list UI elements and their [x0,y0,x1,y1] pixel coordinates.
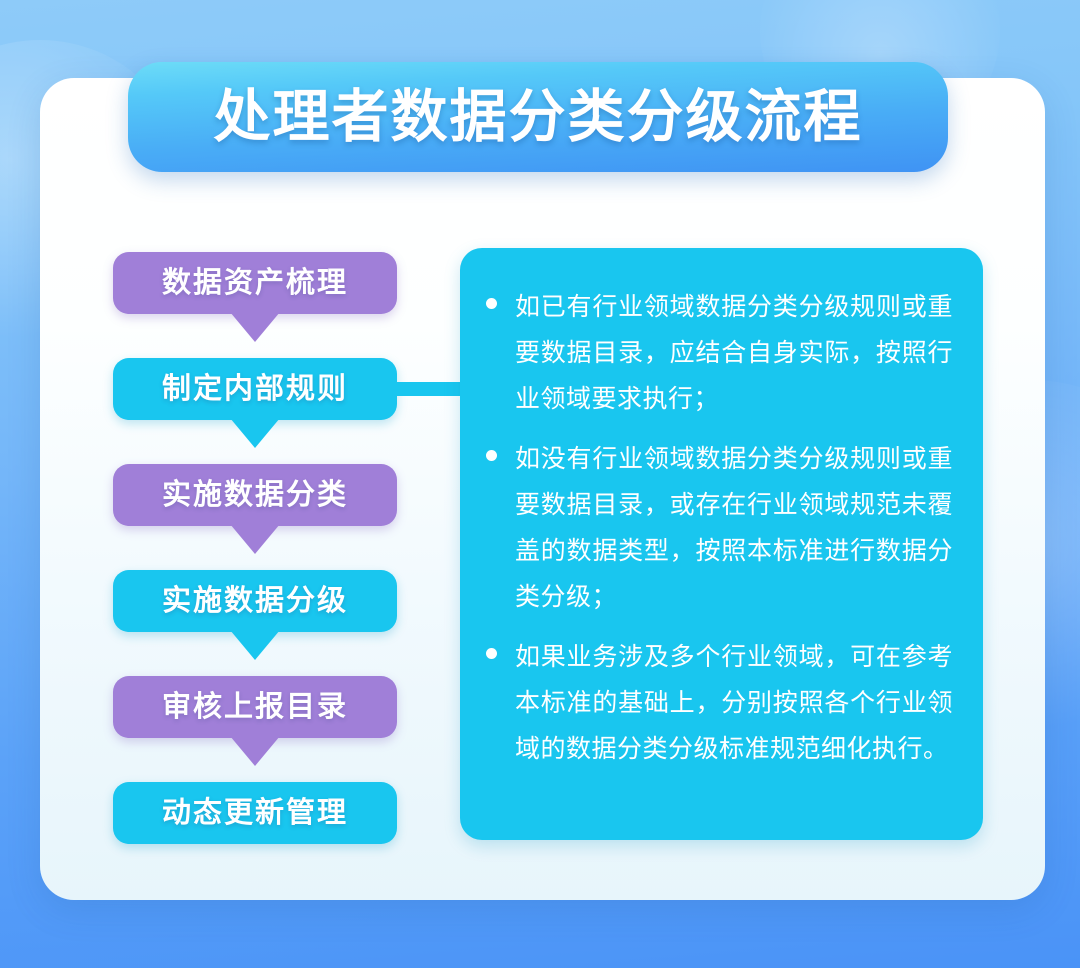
bullet-icon [486,648,497,659]
flow-step-dynamic-update-management[interactable]: 动态更新管理 [113,782,397,844]
arrow-down-icon [230,630,280,660]
flow-step-data-asset-inventory[interactable]: 数据资产梳理 [113,252,397,314]
arrow-down-icon [230,736,280,766]
flow-step-label: 数据资产梳理 [162,269,348,298]
flow-step-data-grading[interactable]: 实施数据分级 [113,570,397,632]
page-title: 处理者数据分类分级流程 [214,89,863,146]
note-list-item: 如已有行业领域数据分类分级规则或重要数据目录，应结合自身实际，按照行业领域要求执… [486,284,953,422]
flow-step-label: 动态更新管理 [162,799,348,828]
flow-step-label: 审核上报目录 [162,693,348,722]
note-list-item: 如没有行业领域数据分类分级规则或重要数据目录，或存在行业领域规范未覆盖的数据类型… [486,436,953,620]
infographic-poster: 处理者数据分类分级流程 数据资产梳理 制定内部规则 实施数据分类 实施数据分级 … [0,0,1080,968]
note-text: 如已有行业领域数据分类分级规则或重要数据目录，应结合自身实际，按照行业领域要求执… [515,284,953,422]
note-text: 如没有行业领域数据分类分级规则或重要数据目录，或存在行业领域规范未覆盖的数据类型… [515,436,953,620]
arrow-down-icon [230,418,280,448]
flow-step-internal-rules[interactable]: 制定内部规则 [113,358,397,420]
flow-step-review-report-catalog[interactable]: 审核上报目录 [113,676,397,738]
flow-step-label: 实施数据分类 [162,481,348,510]
arrow-down-icon [230,524,280,554]
arrow-down-icon [230,312,280,342]
flow-step-label: 制定内部规则 [162,375,348,404]
flow-step-data-classification[interactable]: 实施数据分类 [113,464,397,526]
title-banner: 处理者数据分类分级流程 [128,62,948,172]
note-text: 如果业务涉及多个行业领域，可在参考本标准的基础上，分别按照各个行业领域的数据分类… [515,634,953,772]
bullet-icon [486,298,497,309]
note-list-item: 如果业务涉及多个行业领域，可在参考本标准的基础上，分别按照各个行业领域的数据分类… [486,634,953,772]
notes-panel: 如已有行业领域数据分类分级规则或重要数据目录，应结合自身实际，按照行业领域要求执… [460,248,983,840]
bullet-icon [486,450,497,461]
flow-step-label: 实施数据分级 [162,587,348,616]
process-flow-column: 数据资产梳理 制定内部规则 实施数据分类 实施数据分级 审核上报目录 动态更新管… [113,252,397,844]
